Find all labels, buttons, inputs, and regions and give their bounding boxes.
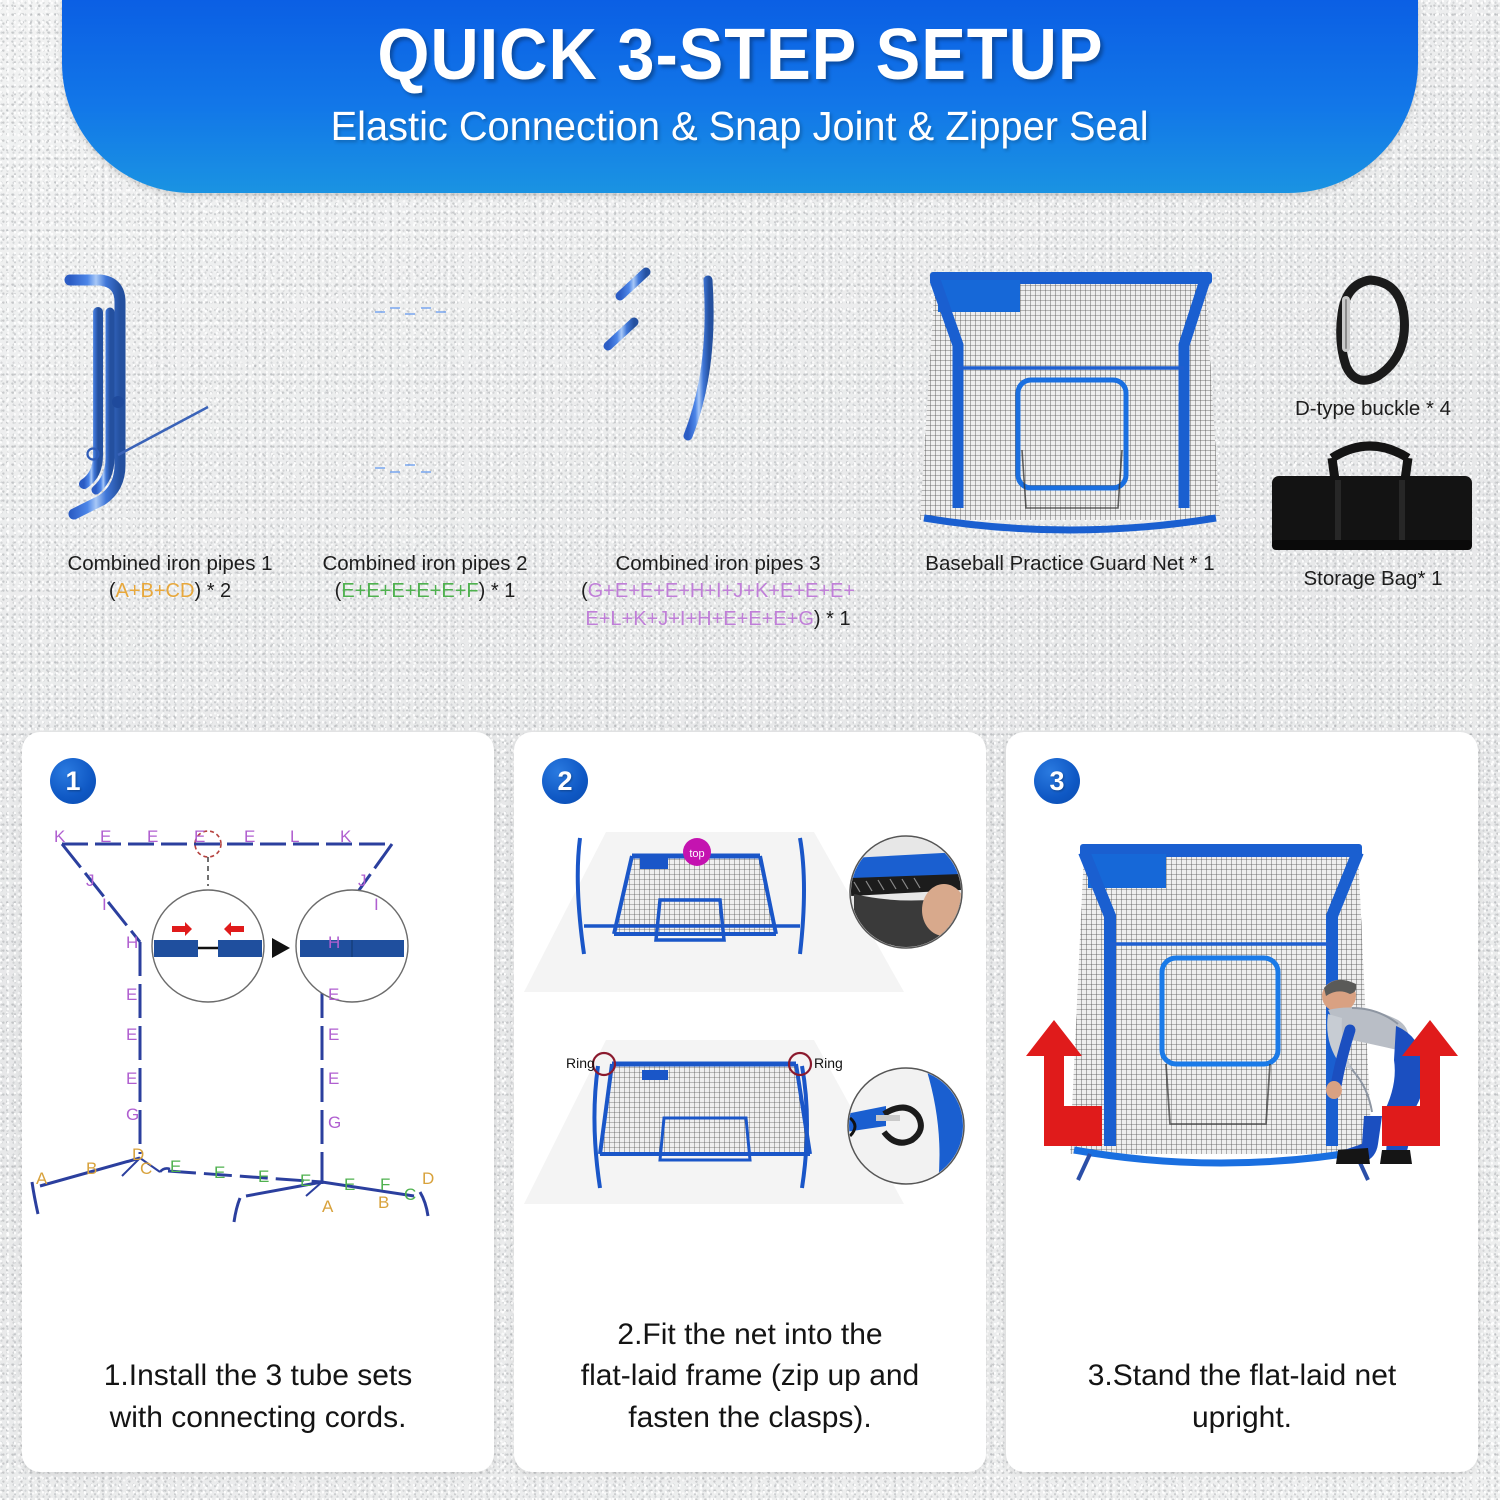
frame-label: E [194, 828, 205, 845]
parts-list: Combined iron pipes 1 (A+B+CD) * 2 [0, 250, 1500, 680]
formula-quantity: * 1 [826, 608, 850, 630]
frame-label: E [126, 986, 137, 1003]
part-label: Combined iron pipes 1 [40, 550, 300, 577]
part-combined-iron-pipes-1: Combined iron pipes 1 (A+B+CD) * 2 [40, 250, 300, 605]
part-combined-iron-pipes-2: Combined iron pipes 2 (E+E+E+E+E+F) * 1 [300, 250, 550, 605]
frame-label: G [126, 1106, 139, 1123]
step-2-caption: 2.Fit the net into the flat-laid frame (… [534, 1314, 966, 1438]
straight-pipe-bundle-icon [300, 250, 550, 550]
frame-label: E [328, 986, 339, 1003]
carabiner-icon [1258, 270, 1488, 395]
frame-label: B [86, 1160, 97, 1177]
frame-label: G [328, 1114, 341, 1131]
formula-codes-line2: E+L+K+J+I+H+E+E+E+G [585, 608, 814, 630]
frame-label: C [404, 1186, 416, 1203]
caption-line: with connecting cords. [42, 1397, 474, 1438]
formula-open-paren: ( [109, 580, 116, 602]
frame-label: E [244, 828, 255, 845]
frame-label: I [102, 896, 107, 913]
caption-line: 2.Fit the net into the [534, 1314, 966, 1355]
step-2-net-fitting-diagram: top [514, 824, 986, 1294]
large-pipe-bundle-icon [548, 250, 888, 550]
step-1-caption: 1.Install the 3 tube sets with connectin… [42, 1355, 474, 1438]
frame-label: F [380, 1176, 390, 1193]
frame-label: E [126, 1026, 137, 1043]
duffel-bag-icon [1258, 440, 1488, 565]
frame-label: E [100, 828, 111, 845]
caption-line: upright. [1026, 1397, 1458, 1438]
step-number-badge: 2 [542, 758, 588, 804]
step-card-1: 1 [22, 732, 494, 1472]
formula-quantity: * 1 [491, 580, 515, 602]
formula-codes: A+B+CD [116, 580, 195, 602]
page-subtitle: Elastic Connection & Snap Joint & Zipper… [331, 103, 1149, 150]
part-formula: (E+E+E+E+E+F) * 1 [300, 577, 550, 605]
formula-open-paren: ( [581, 580, 588, 602]
frame-label: A [36, 1170, 47, 1187]
part-label: D-type buckle * 4 [1258, 395, 1488, 422]
frame-label: E [214, 1164, 225, 1181]
ring-label-right-text: Ring [814, 1055, 843, 1071]
part-d-type-buckle: D-type buckle * 4 [1258, 270, 1488, 422]
step-1-frame-diagram: K E E E E L K J I J I H E E E G H E E E … [22, 824, 494, 1294]
frame-label: E [170, 1158, 181, 1175]
part-formula: (G+E+E+E+H+I+J+K+E+E+E+ [548, 577, 888, 605]
frame-label: D [422, 1170, 434, 1187]
part-formula-line2: E+L+K+J+I+H+E+E+E+G) * 1 [548, 605, 888, 633]
part-label: Combined iron pipes 3 [548, 550, 888, 577]
frame-label: C [140, 1160, 152, 1177]
step-number-badge: 3 [1034, 758, 1080, 804]
part-formula: (A+B+CD) * 2 [40, 577, 300, 605]
part-combined-iron-pipes-3: Combined iron pipes 3 (G+E+E+E+H+I+J+K+E… [548, 250, 888, 633]
bent-pipe-bundle-icon [40, 250, 300, 550]
frame-label: E [328, 1070, 339, 1087]
frame-label: I [374, 896, 379, 913]
baseball-net-icon [890, 250, 1250, 550]
frame-label: J [86, 872, 95, 889]
frame-label: E [126, 1070, 137, 1087]
caption-line: fasten the clasps). [534, 1397, 966, 1438]
frame-label: K [54, 828, 65, 845]
caption-line: 1.Install the 3 tube sets [42, 1355, 474, 1396]
caption-line: 3.Stand the flat-laid net [1026, 1355, 1458, 1396]
formula-codes: E+E+E+E+E+F [341, 580, 478, 602]
frame-label: H [126, 934, 138, 951]
formula-quantity: * 2 [207, 580, 231, 602]
step-card-2: 2 top [514, 732, 986, 1472]
formula-close-paren: ) [194, 580, 201, 602]
part-label: Baseball Practice Guard Net * 1 [890, 550, 1250, 577]
page-title: QUICK 3-STEP SETUP [377, 14, 1103, 97]
formula-close-paren: ) [814, 608, 821, 630]
frame-label: E [258, 1168, 269, 1185]
frame-label: K [340, 828, 351, 845]
part-storage-bag: Storage Bag* 1 [1258, 440, 1488, 592]
formula-codes-line1: G+E+E+E+H+I+J+K+E+E+E+ [588, 580, 855, 602]
step-number-badge: 1 [50, 758, 96, 804]
frame-label: E [147, 828, 158, 845]
frame-label: E [300, 1172, 311, 1189]
svg-text:top: top [689, 848, 704, 860]
frame-label: E [328, 1026, 339, 1043]
part-label: Combined iron pipes 2 [300, 550, 550, 577]
part-label: Storage Bag* 1 [1258, 565, 1488, 592]
step-3-stand-upright-diagram [1006, 824, 1478, 1294]
frame-label: B [378, 1194, 389, 1211]
part-baseball-practice-guard-net: Baseball Practice Guard Net * 1 [890, 250, 1250, 577]
formula-close-paren: ) [479, 580, 486, 602]
header-banner: QUICK 3-STEP SETUP Elastic Connection & … [62, 0, 1418, 193]
ring-label-left-text: Ring [566, 1055, 595, 1071]
frame-label: A [322, 1198, 333, 1215]
step-3-caption: 3.Stand the flat-laid net upright. [1026, 1355, 1458, 1438]
step-card-3: 3 [1006, 732, 1478, 1472]
frame-label: H [328, 934, 340, 951]
frame-label: J [358, 872, 367, 889]
frame-label: L [290, 828, 299, 845]
caption-line: flat-laid frame (zip up and [534, 1355, 966, 1396]
frame-label: E [344, 1176, 355, 1193]
